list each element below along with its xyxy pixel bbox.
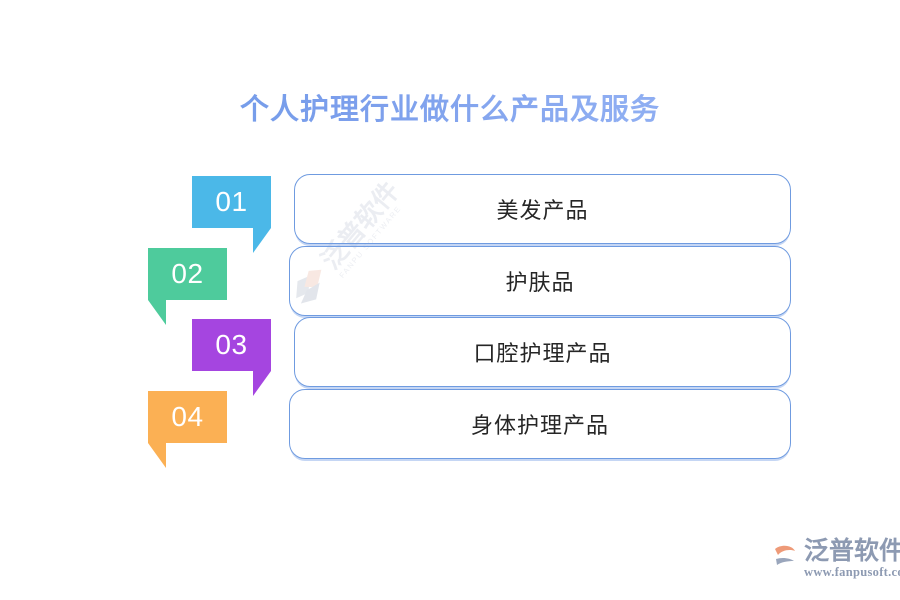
list-item: 美发产品 01 bbox=[0, 174, 900, 246]
item-label-4: 身体护理产品 bbox=[290, 390, 790, 458]
brand-url: www.fanpusoft.com bbox=[804, 565, 900, 580]
item-panel-2[interactable]: 护肤品 bbox=[289, 246, 791, 316]
item-panel-4[interactable]: 身体护理产品 bbox=[289, 389, 791, 459]
item-panel-3[interactable]: 口腔护理产品 bbox=[294, 317, 791, 387]
item-badge-2[interactable]: 02 bbox=[148, 248, 227, 300]
brand-name: 泛普软件 bbox=[804, 538, 900, 564]
item-label-1: 美发产品 bbox=[295, 175, 790, 243]
item-badge-3[interactable]: 03 bbox=[192, 319, 271, 371]
brand-logo-icon bbox=[766, 540, 800, 570]
list-item: 护肤品 02 bbox=[0, 246, 900, 318]
item-label-2: 护肤品 bbox=[290, 247, 790, 315]
list-container: 美发产品 01 护肤品 02 口腔护理产品 03 bbox=[0, 0, 900, 600]
list-item: 身体护理产品 04 bbox=[0, 389, 900, 461]
item-number-1: 01 bbox=[215, 186, 247, 218]
list-item: 口腔护理产品 03 bbox=[0, 317, 900, 389]
item-label-3: 口腔护理产品 bbox=[295, 318, 790, 386]
item-number-2: 02 bbox=[171, 258, 203, 290]
item-number-3: 03 bbox=[215, 329, 247, 361]
slide-canvas: 个人护理行业做什么产品及服务 泛普软件 FANPU SOFTWARE 美发产品 bbox=[0, 0, 900, 600]
item-number-4: 04 bbox=[171, 401, 203, 433]
item-badge-1[interactable]: 01 bbox=[192, 176, 271, 228]
badge-tail-icon bbox=[148, 443, 166, 468]
item-panel-1[interactable]: 美发产品 bbox=[294, 174, 791, 244]
brand-logo: 泛普软件 www.fanpusoft.com bbox=[766, 538, 900, 580]
item-badge-4[interactable]: 04 bbox=[148, 391, 227, 443]
